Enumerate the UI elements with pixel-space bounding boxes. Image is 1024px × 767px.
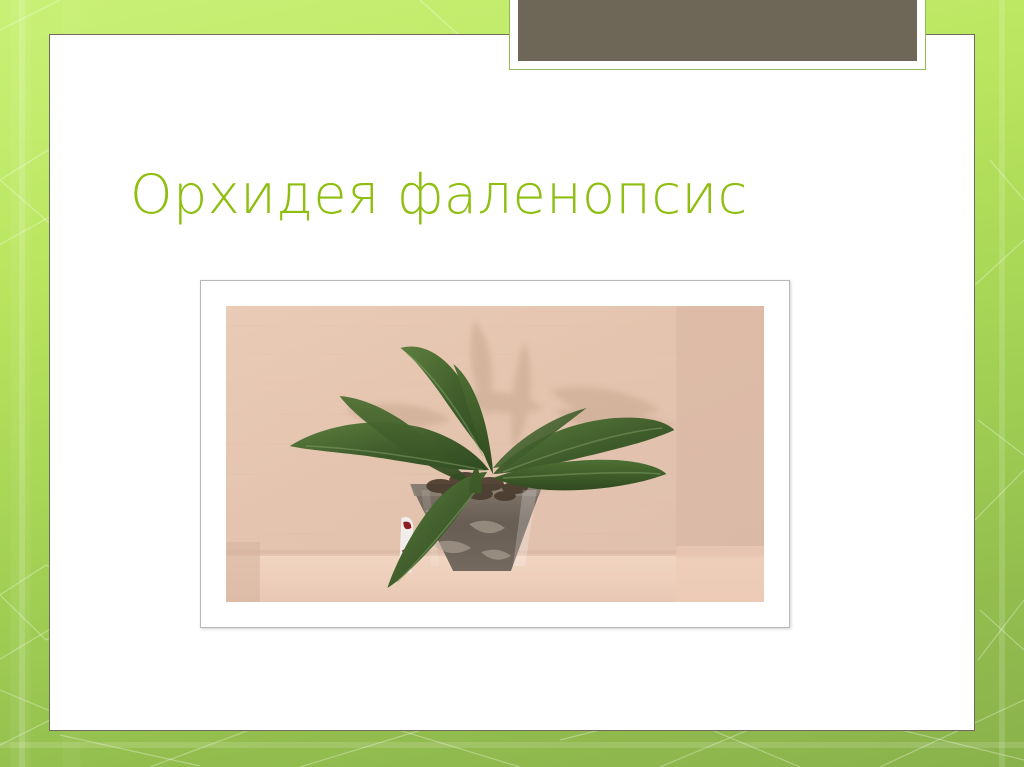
top-banner-fill — [518, 0, 917, 61]
orchid-photo — [226, 306, 764, 602]
page-title: Орхидея фаленопсис — [130, 163, 830, 227]
top-decorative-banner — [509, 0, 926, 70]
photo-frame — [200, 280, 790, 628]
presentation-slide: Орхидея фаленопсис — [0, 0, 1024, 767]
